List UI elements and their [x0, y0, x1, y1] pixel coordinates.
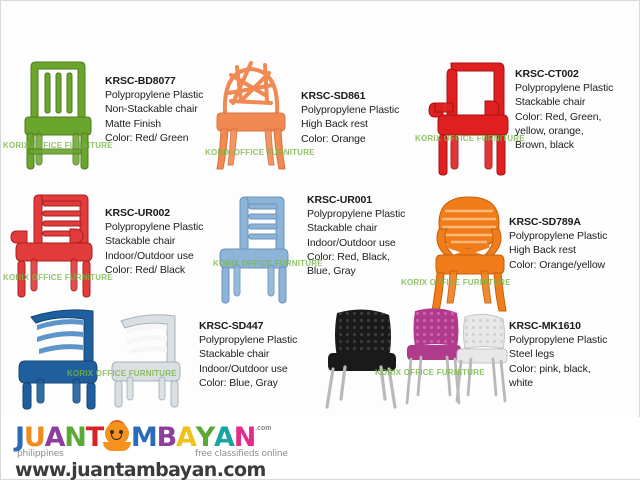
product-spec: Color: pink, black,	[509, 362, 607, 376]
product-spec: Matte Finish	[105, 117, 203, 131]
product-code: KRSC-UR001	[307, 193, 405, 207]
blue-gray-curved-slat-chairs	[13, 303, 193, 411]
product-spec: Polypropylene Plastic	[199, 333, 297, 347]
product-KRSC-MK1610: KRSC-MK1610 Polypropylene Plastic Steel …	[509, 319, 607, 390]
brand-banner: J U A N T M B A Y A N .com philippines f…	[1, 417, 640, 479]
product-spec: Polypropylene Plastic	[105, 220, 203, 234]
product-spec: Stackable chair	[199, 347, 297, 361]
product-spec: Steel legs	[509, 347, 607, 361]
product-spec: Brown, black	[515, 138, 613, 152]
product-KRSC-UR002: KRSC-UR002 Polypropylene Plastic Stackab…	[105, 206, 203, 277]
logo-letter-j: J	[15, 424, 24, 451]
product-KRSC-SD789A: KRSC-SD789A Polypropylene Plastic High B…	[509, 215, 607, 272]
product-spec: Polypropylene Plastic	[509, 333, 607, 347]
product-spec: Color: Red/ Green	[105, 131, 203, 145]
logo-letter-n2: N	[234, 424, 255, 451]
orange-round-back-chair	[425, 193, 515, 315]
red-armchair	[425, 57, 517, 179]
logo-letter-a: A	[45, 424, 65, 451]
product-spec: High Back rest	[509, 243, 607, 257]
product-spec: Polypropylene Plastic	[301, 103, 399, 117]
logo-letter-t: T	[86, 424, 103, 451]
tagline-right: free classifieds online	[195, 449, 288, 459]
product-spec: yellow, orange,	[515, 124, 613, 138]
product-spec: Indoor/Outdoor use	[199, 362, 297, 376]
logo-letter-n: N	[64, 424, 85, 451]
brand-url[interactable]: www.juantambayan.com	[15, 459, 266, 480]
perforated-shell-chairs	[323, 303, 505, 409]
catalog-page: KORIX OFFICE FURNITURE KRSC-BD8077 Polyp…	[0, 0, 640, 480]
product-code: KRSC-UR002	[105, 206, 203, 220]
product-spec: Stackable chair	[105, 234, 203, 248]
gray-curved-slat-chair	[112, 315, 180, 407]
juantambayan-logo: J U A N T M B A Y A N .com	[15, 421, 264, 451]
logo-letter-m: M	[131, 424, 157, 451]
product-spec: Color: Red, Black,	[307, 250, 405, 264]
product-KRSC-SD447: KRSC-SD447 Polypropylene Plastic Stackab…	[199, 319, 297, 390]
product-spec: Blue, Gray	[307, 264, 405, 278]
product-code: KRSC-MK1610	[509, 319, 607, 333]
logo-letter-y: Y	[196, 424, 214, 451]
tagline-left: philippines	[17, 449, 64, 459]
product-spec: Polypropylene Plastic	[105, 88, 203, 102]
product-code: KRSC-BD8077	[105, 74, 203, 88]
white-perforated-chair	[457, 314, 507, 401]
product-code: KRSC-SD861	[301, 89, 399, 103]
red-slat-armchair	[9, 189, 101, 301]
product-spec: High Back rest	[301, 117, 399, 131]
product-spec: Color: Red/ Black	[105, 263, 203, 277]
product-spec: Stackable chair	[515, 95, 613, 109]
product-code: KRSC-CT002	[515, 67, 613, 81]
product-code: KRSC-SD789A	[509, 215, 607, 229]
product-spec: Color: Orange	[301, 132, 399, 146]
black-perforated-chair	[327, 309, 396, 407]
product-spec: Stackable chair	[307, 221, 405, 235]
orange-lattice-chair	[207, 51, 295, 173]
product-spec: white	[509, 376, 607, 390]
product-spec: Polypropylene Plastic	[515, 81, 613, 95]
blue-slat-chair	[211, 193, 295, 305]
product-spec: Indoor/Outdoor use	[307, 236, 405, 250]
product-KRSC-CT002: KRSC-CT002 Polypropylene Plastic Stackab…	[515, 67, 613, 152]
product-spec: Color: Blue, Gray	[199, 376, 297, 390]
product-spec: Polypropylene Plastic	[509, 229, 607, 243]
product-code: KRSC-SD447	[199, 319, 297, 333]
product-spec: Indoor/Outdoor use	[105, 249, 203, 263]
logo-letter-a3: A	[214, 424, 234, 451]
logo-letter-a2: A	[176, 424, 196, 451]
product-KRSC-SD861: KRSC-SD861 Polypropylene Plastic High Ba…	[301, 89, 399, 146]
logo-letter-u: U	[24, 424, 45, 451]
product-spec: Color: Orange/yellow	[509, 258, 607, 272]
product-spec: Non-Stackable chair	[105, 102, 203, 116]
logo-tld: .com	[255, 425, 264, 433]
product-KRSC-BD8077: KRSC-BD8077 Polypropylene Plastic Non-St…	[105, 74, 203, 145]
pink-perforated-chair	[407, 308, 461, 403]
product-spec: Color: Red, Green,	[515, 110, 613, 124]
green-navy-chair	[15, 53, 101, 173]
blue-curved-slat-chair	[19, 310, 97, 409]
product-KRSC-UR001: KRSC-UR001 Polypropylene Plastic Stackab…	[307, 193, 405, 278]
product-spec: Polypropylene Plastic	[307, 207, 405, 221]
logo-letter-b: B	[157, 424, 176, 451]
juan-mascot-icon	[102, 421, 132, 451]
